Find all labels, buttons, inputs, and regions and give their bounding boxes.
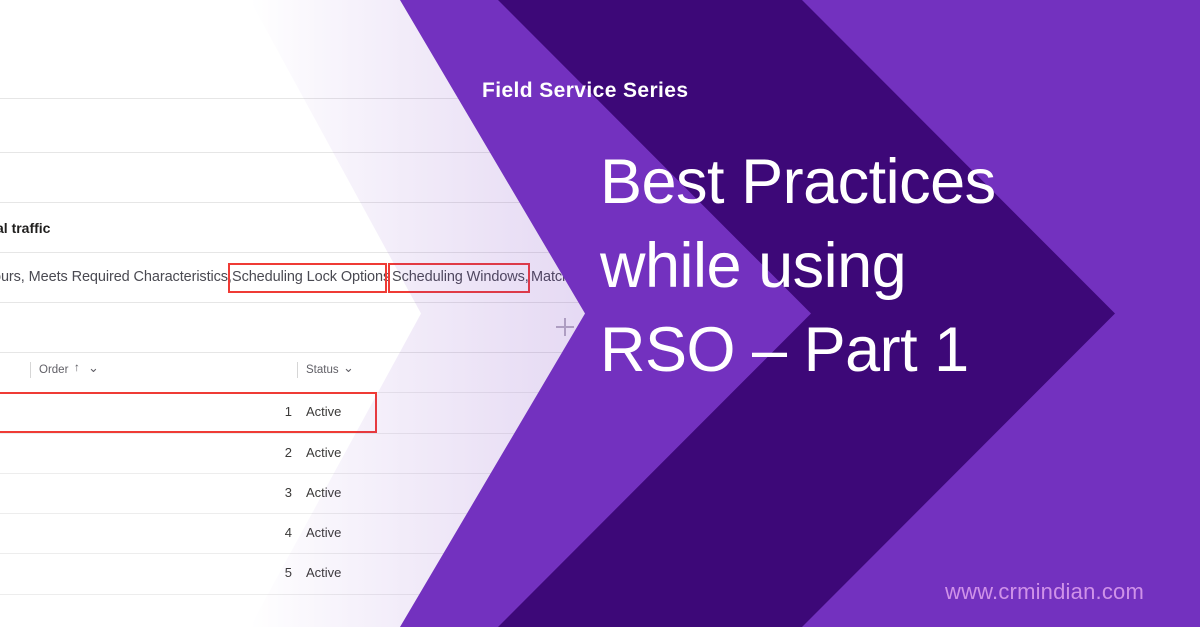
cell-order: 4	[272, 525, 292, 540]
cell-status: Active	[306, 565, 341, 580]
cell-order: 3	[272, 485, 292, 500]
panel-divider	[0, 302, 620, 303]
headline-line-1: Best Practices	[600, 140, 1160, 224]
cell-status: Active	[306, 525, 341, 540]
filter-text-prefix: ours, Meets Required Characteristics,	[0, 269, 232, 285]
column-divider	[297, 362, 298, 378]
page-title: Best Practices while using RSO – Part 1	[600, 140, 1160, 392]
cell-order: 2	[272, 445, 292, 460]
cell-status: Active	[306, 485, 341, 500]
sort-ascending-icon[interactable]: ↑	[74, 362, 80, 374]
headline-line-2: while using	[600, 224, 1160, 308]
column-divider	[30, 362, 31, 378]
series-kicker: Field Service Series	[482, 79, 688, 103]
panel-divider	[0, 352, 620, 353]
column-header-status[interactable]: Status	[306, 364, 339, 376]
cell-order: 5	[272, 565, 292, 580]
highlight-box-scheduling-lock-options	[228, 263, 387, 293]
column-header-order[interactable]: Order	[39, 364, 68, 376]
panel-divider	[0, 252, 620, 253]
highlight-box-scheduling-windows	[388, 263, 530, 293]
chevron-down-icon[interactable]: ⌄	[343, 360, 354, 376]
banner-canvas: al traffic ours, Meets Required Characte…	[0, 0, 1200, 627]
website-url[interactable]: www.crmindian.com	[945, 579, 1144, 605]
cell-status: Active	[306, 445, 341, 460]
headline-line-3: RSO – Part 1	[600, 308, 1160, 392]
section-label: al traffic	[0, 220, 50, 236]
plus-icon[interactable]	[556, 318, 574, 336]
chevron-down-icon[interactable]: ⌄	[88, 360, 99, 376]
highlight-box-first-row	[0, 392, 377, 433]
